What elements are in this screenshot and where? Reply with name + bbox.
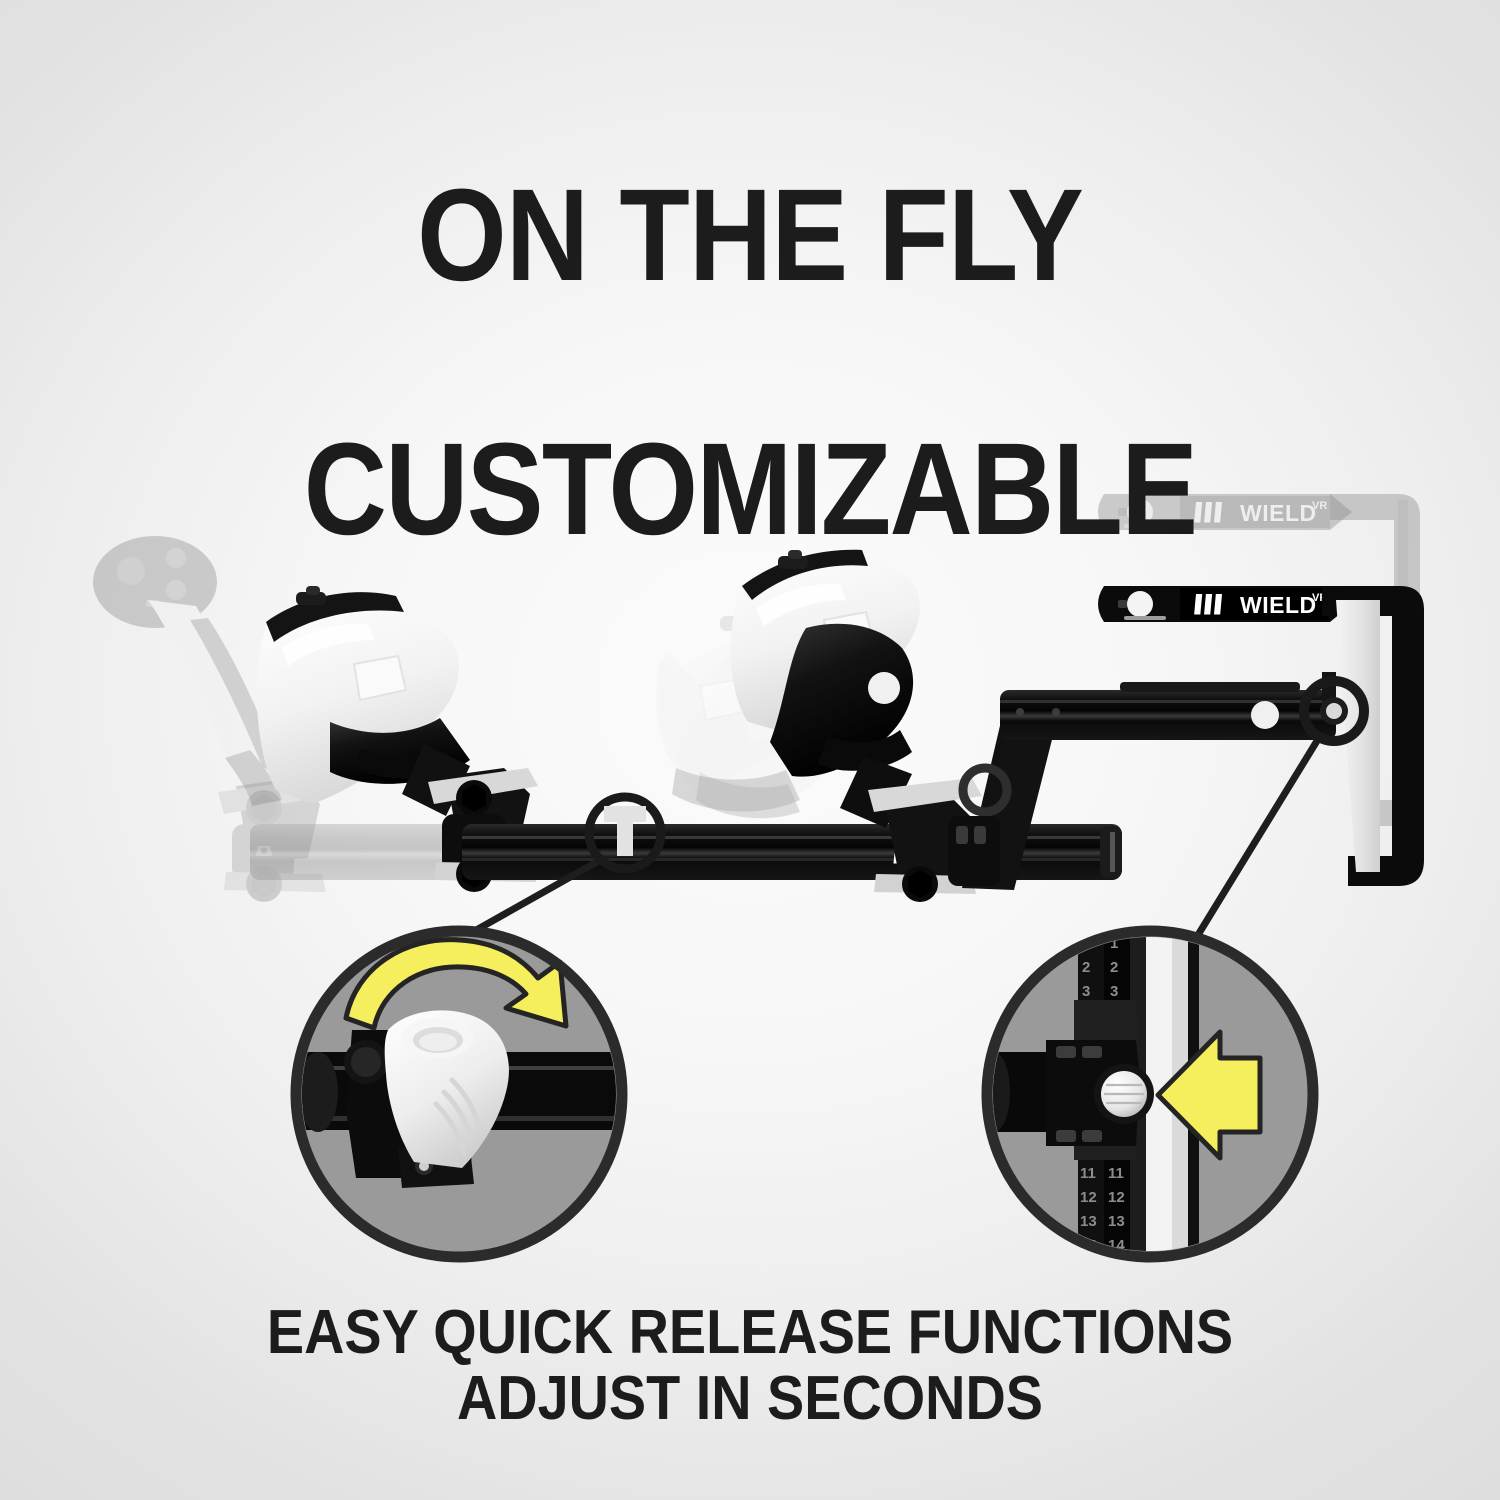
headline-line-1: ON THE FLY bbox=[90, 171, 1410, 298]
svg-text:2: 2 bbox=[1082, 959, 1090, 976]
svg-text:12: 12 bbox=[1080, 1189, 1097, 1206]
svg-text:12: 12 bbox=[1108, 1189, 1125, 1206]
svg-text:2: 2 bbox=[1110, 959, 1118, 976]
svg-text:13: 13 bbox=[1080, 1213, 1097, 1230]
page-title: ON THE FLY CUSTOMIZABLE bbox=[90, 44, 1410, 679]
caption-line-1: EASY QUICK RELEASE FUNCTIONS bbox=[75, 1300, 1425, 1366]
infographic-canvas: WIELD VR WIELD VR bbox=[0, 0, 1500, 1500]
svg-text:11: 11 bbox=[1108, 1165, 1124, 1182]
caption-line-2: ADJUST IN SECONDS bbox=[75, 1366, 1425, 1432]
callout-quick-release-lever bbox=[296, 931, 622, 1257]
top-rail-assembly bbox=[948, 682, 1336, 890]
callout-length-adjust-knob: 123 123 1112 1314 1112 1314 bbox=[978, 931, 1313, 1257]
svg-text:11: 11 bbox=[1080, 1165, 1096, 1182]
svg-text:3: 3 bbox=[1110, 983, 1118, 1000]
leader-line-right bbox=[1190, 736, 1320, 948]
svg-text:3: 3 bbox=[1082, 983, 1090, 1000]
page-caption: EASY QUICK RELEASE FUNCTIONS ADJUST IN S… bbox=[75, 1300, 1425, 1431]
headline-line-2: CUSTOMIZABLE bbox=[90, 425, 1410, 552]
svg-text:13: 13 bbox=[1108, 1213, 1125, 1230]
